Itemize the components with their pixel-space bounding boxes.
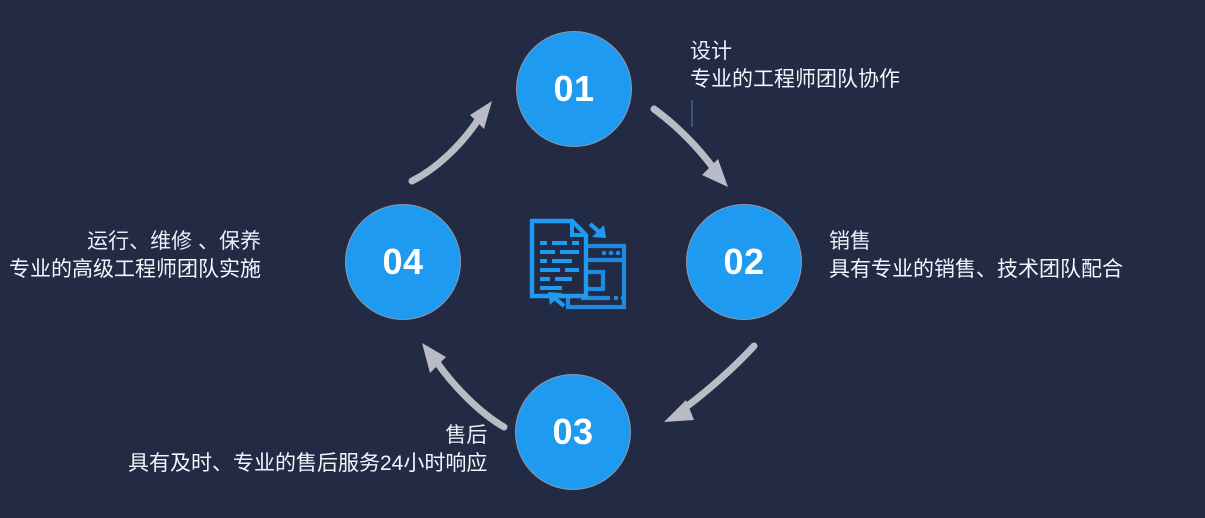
- process-cycle-diagram: 01 02 03 04 设计 专业的工程师团队协作 销售 具有专业的销售、技术团…: [0, 0, 1205, 518]
- step-title-03: 售后: [128, 422, 487, 450]
- step-description-04: 专业的高级工程师团队实施: [9, 256, 261, 284]
- step-title-02: 销售: [829, 228, 1123, 256]
- arrow-04-to-01-icon: [404, 95, 514, 190]
- arrow-03-to-04-icon: [404, 335, 516, 435]
- step-number-04: 04: [382, 244, 423, 280]
- step-description-01: 专业的工程师团队协作: [690, 66, 900, 94]
- decorative-tick-line: [691, 100, 693, 127]
- step-number-01: 01: [553, 71, 594, 107]
- step-description-02: 具有专业的销售、技术团队配合: [829, 256, 1123, 284]
- step-title-01: 设计: [690, 38, 900, 66]
- arrow-01-to-02-icon: [648, 95, 763, 195]
- step-label-01: 设计 专业的工程师团队协作: [690, 38, 900, 94]
- step-node-03[interactable]: 03: [516, 375, 630, 489]
- step-number-03: 03: [552, 414, 593, 450]
- step-label-04: 运行、维修 、保养 专业的高级工程师团队实施: [9, 228, 261, 284]
- arrow-02-to-03-icon: [648, 338, 763, 438]
- step-number-02: 02: [723, 244, 764, 280]
- step-description-03: 具有及时、专业的售后服务24小时响应: [128, 450, 487, 478]
- step-title-04: 运行、维修 、保养: [9, 228, 261, 256]
- document-sync-icon: [524, 212, 632, 317]
- step-label-02: 销售 具有专业的销售、技术团队配合: [829, 228, 1123, 284]
- step-node-01[interactable]: 01: [517, 32, 631, 146]
- step-label-03: 售后 具有及时、专业的售后服务24小时响应: [128, 422, 487, 478]
- step-node-02[interactable]: 02: [687, 205, 801, 319]
- step-node-04[interactable]: 04: [346, 205, 460, 319]
